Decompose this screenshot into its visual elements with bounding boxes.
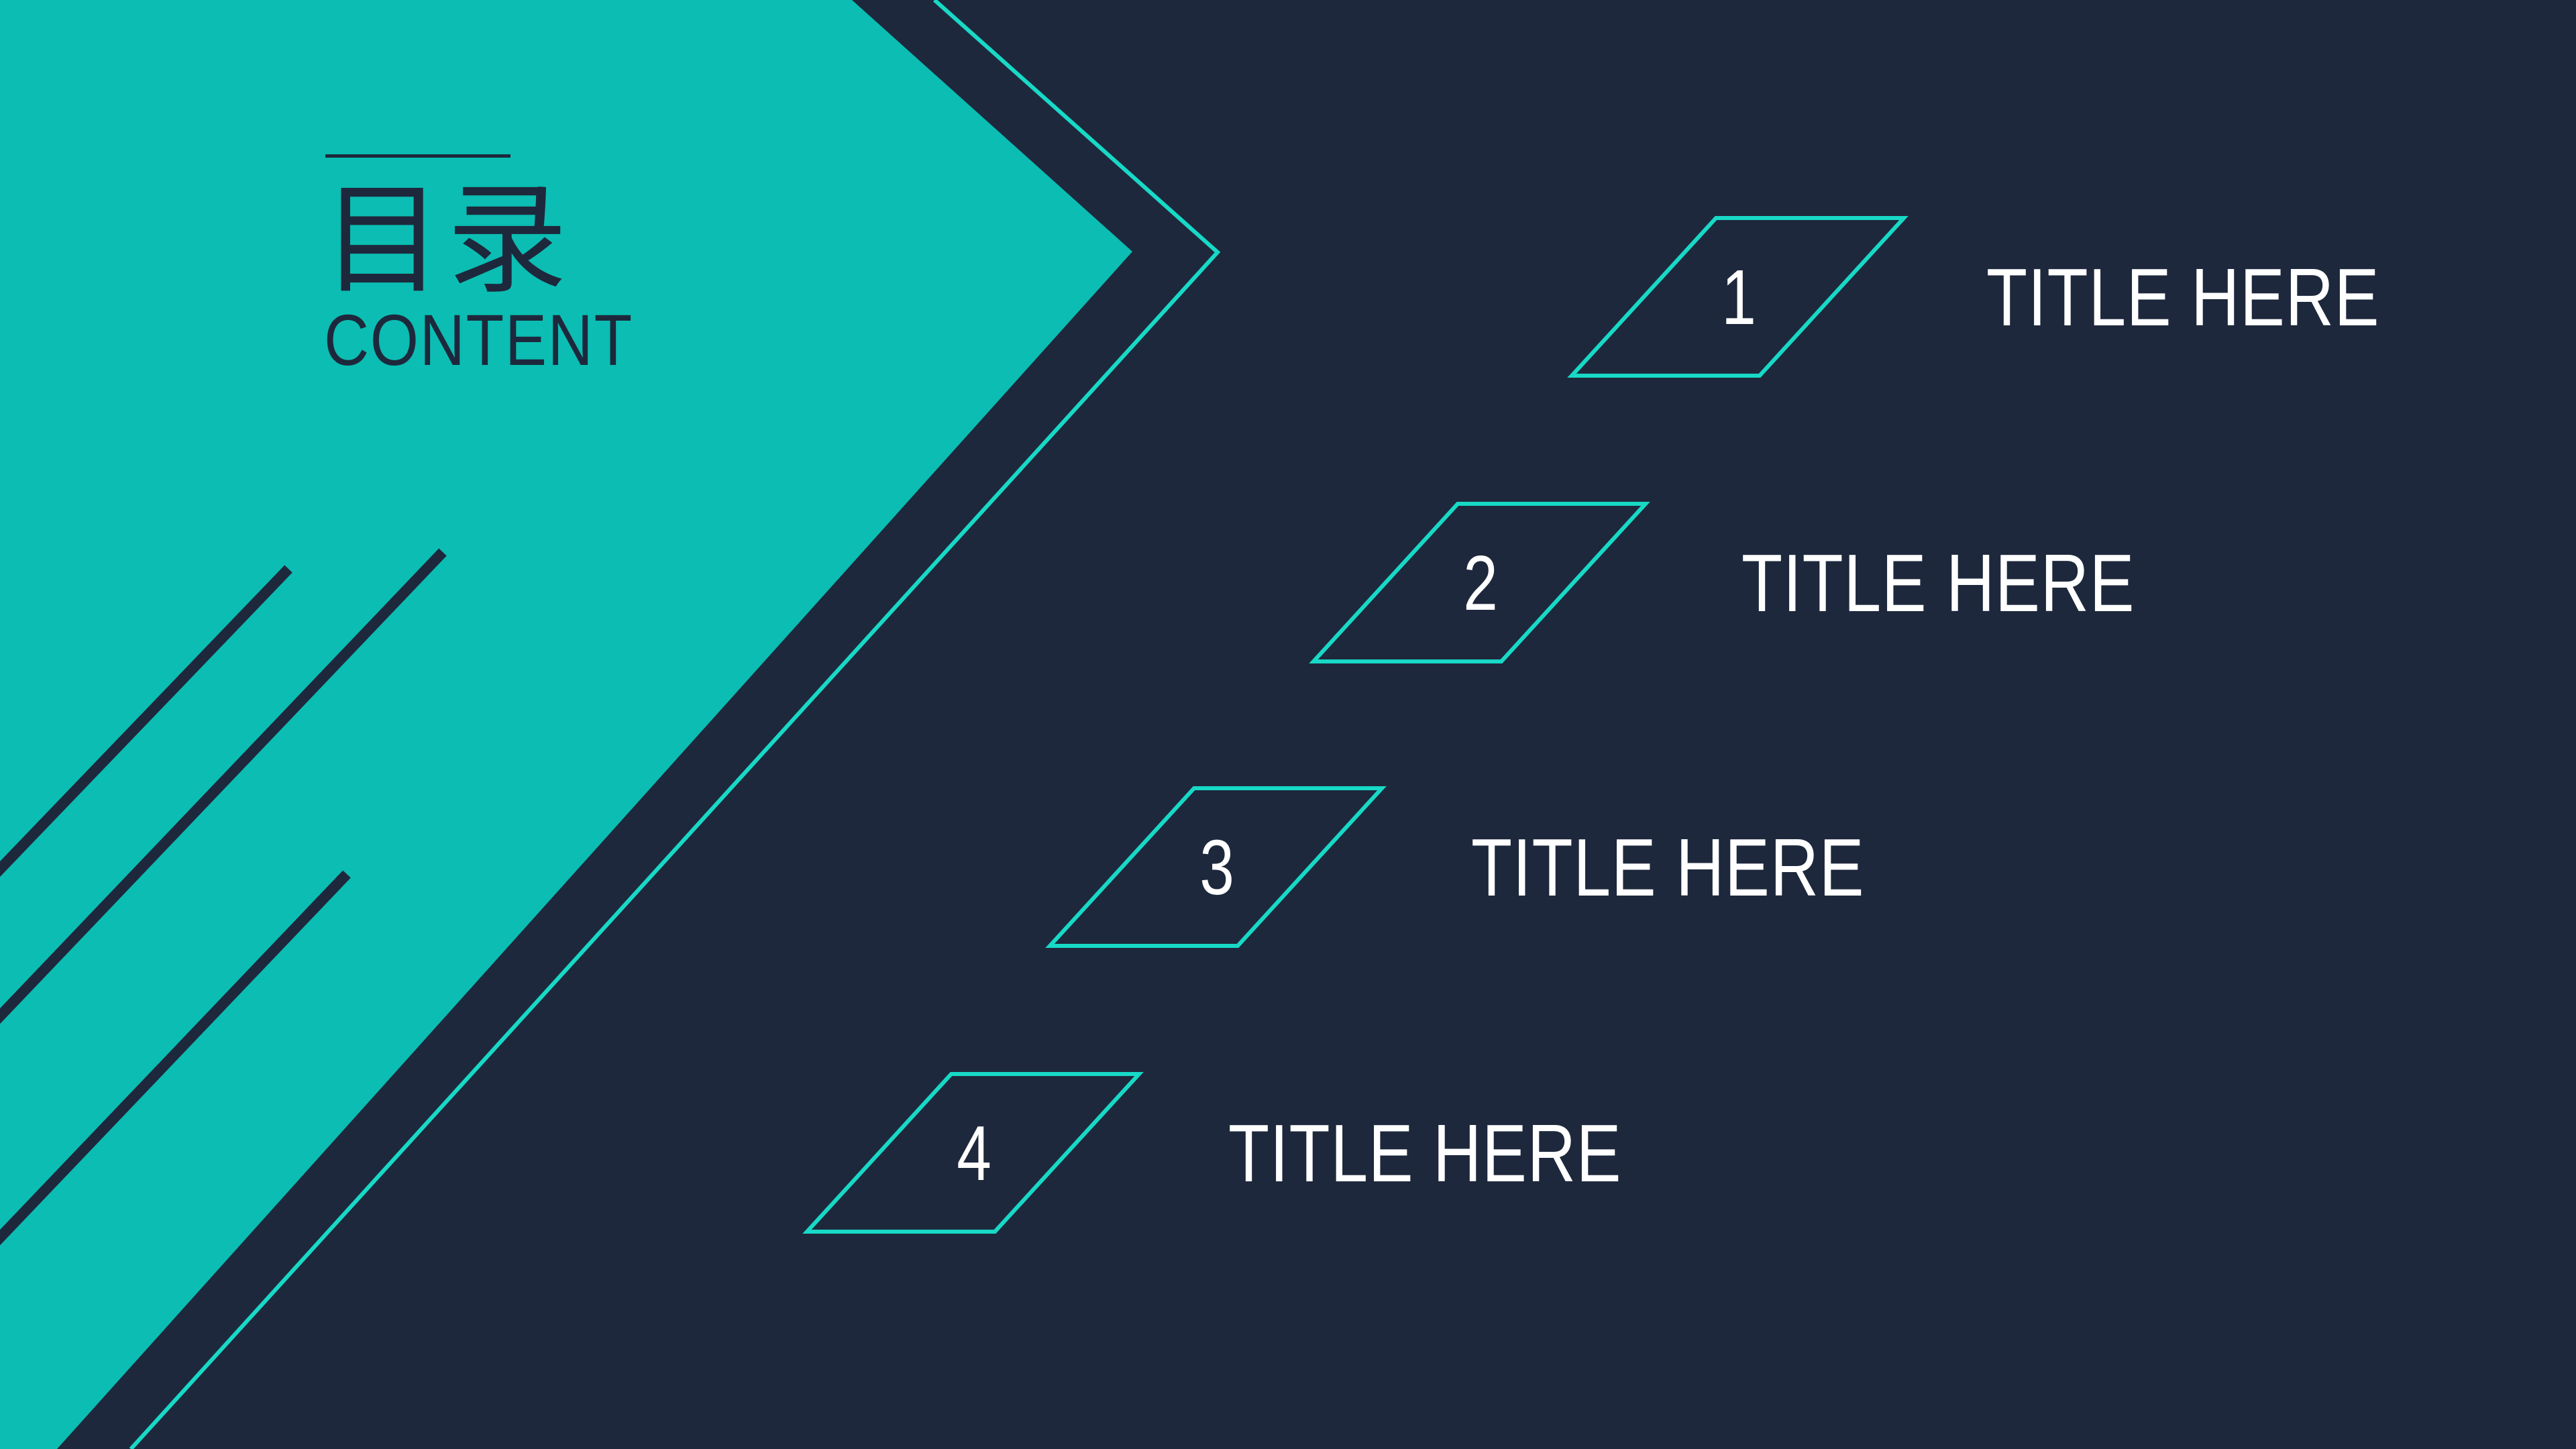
agenda-item-label: TITLE HERE <box>1741 504 2135 662</box>
agenda-list: 1 TITLE HERE 2 TITLE HERE 3 TITLE HERE 4… <box>0 0 2576 1449</box>
agenda-item-label: TITLE HERE <box>1471 788 1864 947</box>
agenda-item-label: TITLE HERE <box>1986 218 2379 376</box>
agenda-item-number: 4 <box>918 1074 1030 1232</box>
agenda-slide: 目录 CONTENT 1 TITLE HERE 2 TITLE HERE 3 T… <box>0 0 2576 1449</box>
agenda-item-label: TITLE HERE <box>1228 1074 1621 1232</box>
agenda-item-number: 2 <box>1424 504 1537 662</box>
agenda-item-number: 3 <box>1161 788 1273 947</box>
agenda-item-number: 1 <box>1682 218 1795 376</box>
